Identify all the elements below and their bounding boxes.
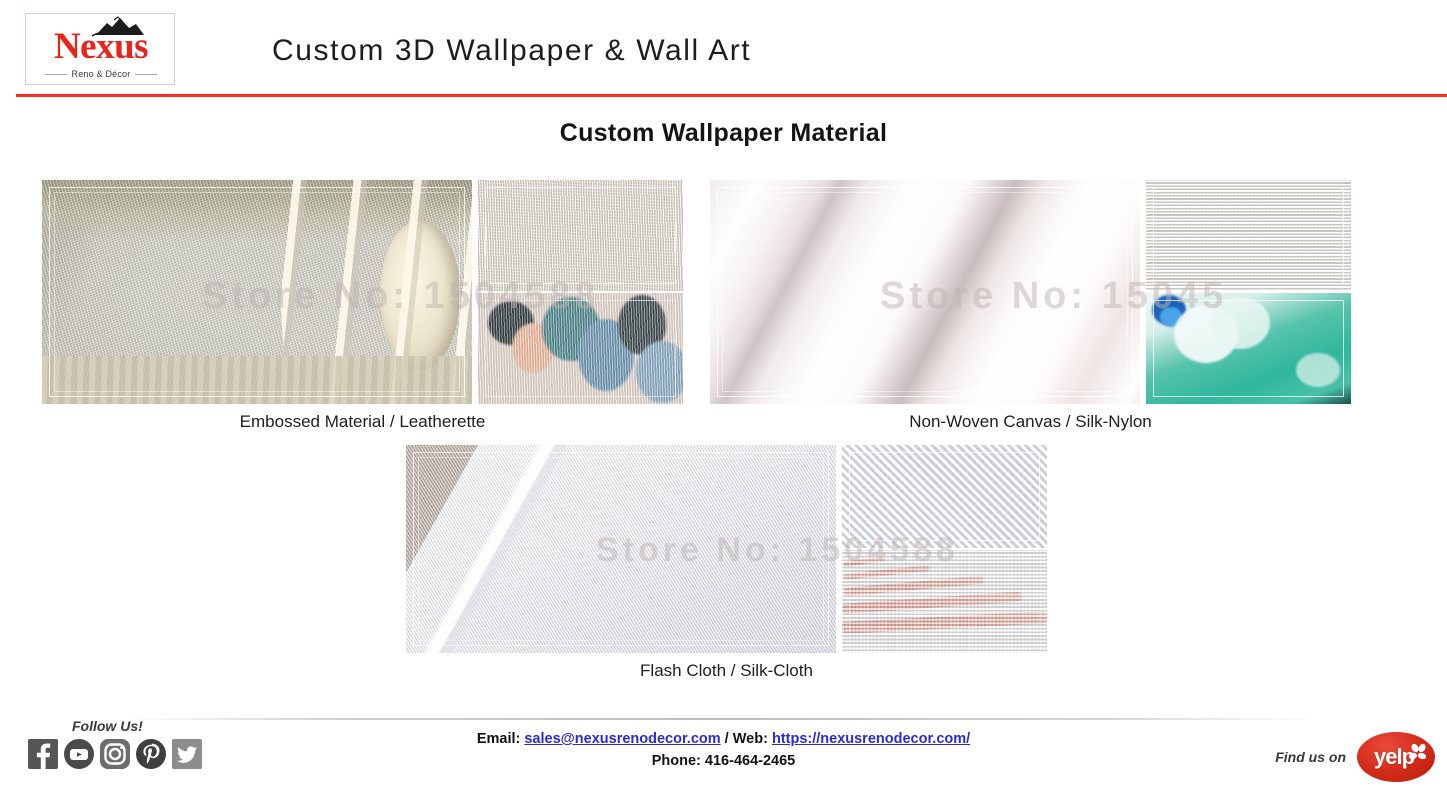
yelp-logo[interactable]: yelp: [1357, 732, 1435, 782]
floral-blob: [1210, 297, 1270, 349]
page-header: Nexus Reno & Décor Custom 3D Wallpaper &…: [0, 0, 1447, 96]
material-card-embossed[interactable]: Store No: 1504588 Embossed Material / Le…: [42, 180, 683, 432]
flash-cloth-sheet-photo[interactable]: [406, 445, 836, 653]
section-title: Custom Wallpaper Material: [0, 119, 1447, 148]
footer-divider: [120, 718, 1320, 720]
photo-texture-overlay: [1146, 180, 1351, 291]
material-photo-row: Store No: 1504588: [406, 445, 1047, 653]
find-us-on-label: Find us on: [1275, 749, 1346, 765]
contact-separator: /: [725, 731, 729, 747]
embossed-printed-pattern-photo[interactable]: [478, 293, 683, 404]
yelp-block[interactable]: Find us on yelp: [1275, 732, 1435, 782]
sheet-fold-shape: [406, 445, 836, 653]
bumpy-diamond-mesh-photo[interactable]: [842, 445, 1047, 548]
red-stripe-print-photo[interactable]: [842, 550, 1047, 653]
header-divider: [16, 94, 1447, 97]
teal-floral-print-photo[interactable]: [1146, 293, 1351, 404]
photo-texture-overlay: [842, 445, 1047, 548]
logo-wordmark: Nexus: [26, 27, 176, 67]
photo-floor-shape: [42, 356, 472, 404]
slide-page: Nexus Reno & Décor Custom 3D Wallpaper &…: [0, 0, 1447, 800]
material-photo-row: Store No: 1504588: [42, 180, 683, 404]
photo-texture-overlay: [710, 180, 1140, 404]
photo-texture-overlay: [842, 550, 1047, 653]
photo-texture-overlay: [478, 293, 683, 404]
material-card-flashcloth[interactable]: Store No: 1504588 Flash Cloth / Silk-Clo…: [406, 445, 1047, 681]
material-photo-row: Store No: 15045: [710, 180, 1351, 404]
material-caption: Non-Woven Canvas / Silk-Nylon: [710, 412, 1351, 432]
material-caption: Embossed Material / Leatherette: [42, 412, 683, 432]
brand-logo[interactable]: Nexus Reno & Décor: [25, 13, 175, 85]
embossed-wallpaper-roll-photo[interactable]: [42, 180, 472, 404]
phone-line: Phone: 416-464-2465: [0, 750, 1447, 772]
white-silk-fabric-photo[interactable]: [710, 180, 1140, 404]
logo-tagline: Reno & Décor: [72, 69, 131, 79]
material-caption: Flash Cloth / Silk-Cloth: [406, 661, 1047, 681]
contact-info: Email: sales@nexusrenodecor.com / Web: h…: [0, 728, 1447, 772]
photo-texture-overlay: [478, 180, 683, 291]
material-card-nonwoven[interactable]: Store No: 15045 Non-Woven Canvas / Silk-…: [710, 180, 1351, 432]
logo-rule-left: [45, 74, 67, 75]
logo-tagline-wrap: Reno & Décor: [26, 69, 176, 79]
woven-mesh-texture-photo[interactable]: [1146, 180, 1351, 291]
email-link[interactable]: sales@nexusrenodecor.com: [524, 731, 720, 747]
website-link[interactable]: https://nexusrenodecor.com/: [772, 731, 970, 747]
floral-blob: [1296, 353, 1340, 387]
material-inset-column: [842, 445, 1047, 653]
yelp-burst-icon: [1408, 743, 1428, 763]
material-inset-column: [1146, 180, 1351, 404]
email-label: Email:: [477, 731, 521, 747]
page-title: Custom 3D Wallpaper & Wall Art: [272, 34, 751, 68]
contact-line-1: Email: sales@nexusrenodecor.com / Web: h…: [0, 728, 1447, 750]
embossed-stipple-texture-photo[interactable]: [478, 180, 683, 291]
material-inset-column: [478, 180, 683, 404]
logo-rule-right: [135, 74, 157, 75]
page-footer: Follow Us!: [0, 700, 1447, 800]
web-label: Web:: [733, 731, 768, 747]
